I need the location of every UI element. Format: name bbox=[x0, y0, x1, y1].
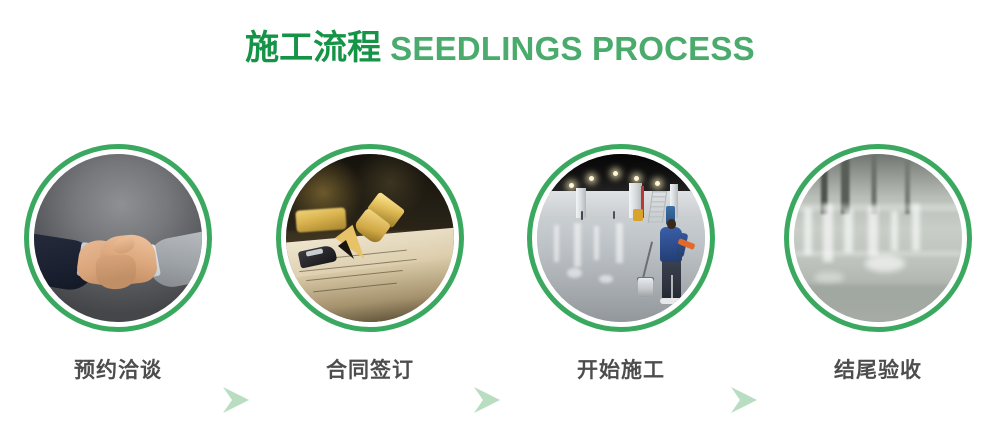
step-4-label: 结尾验收 bbox=[784, 354, 972, 384]
ceiling-lamp bbox=[569, 183, 574, 188]
floor-reflection-streak bbox=[823, 204, 833, 261]
floor-reflection-streak bbox=[804, 208, 812, 255]
step-4-circle-frame bbox=[784, 144, 972, 332]
page-title-english: SEEDLINGS PROCESS bbox=[390, 30, 755, 67]
worker-head bbox=[667, 219, 675, 229]
process-step-1[interactable]: 预约洽谈 bbox=[24, 144, 212, 384]
distant-worker bbox=[581, 211, 584, 219]
arrow-right-icon-3 bbox=[727, 383, 761, 417]
warehouse-scene bbox=[537, 154, 705, 322]
ceiling-lamp bbox=[589, 176, 594, 181]
step-1-label: 预约洽谈 bbox=[24, 354, 212, 384]
handshake-photo bbox=[34, 154, 202, 322]
process-step-3[interactable]: 开始施工 bbox=[527, 144, 715, 384]
floor-construction-photo bbox=[537, 154, 705, 322]
contract-signing-photo bbox=[286, 154, 454, 322]
floor-gloss-highlight bbox=[865, 255, 905, 272]
worker-leg-gap bbox=[671, 275, 673, 300]
floor-gloss-highlight bbox=[814, 272, 844, 284]
floor-reflection bbox=[574, 223, 581, 267]
step-2-label: 合同签订 bbox=[276, 354, 464, 384]
ceiling-lamp bbox=[655, 181, 660, 186]
worker-shoes bbox=[660, 298, 682, 305]
pen-gold-object bbox=[295, 208, 347, 233]
arrow-right-icon-1 bbox=[219, 383, 253, 417]
page-title: 施工流程SEEDLINGS PROCESS bbox=[0, 31, 1000, 65]
step-2-circle-frame bbox=[276, 144, 464, 332]
floor-reflection-streak bbox=[868, 206, 878, 256]
pen-scene-backdrop bbox=[286, 154, 454, 322]
warehouse-wall bbox=[537, 191, 705, 218]
step-3-label: 开始施工 bbox=[527, 354, 715, 384]
floor-light-band bbox=[794, 204, 962, 211]
step-3-circle-frame bbox=[527, 144, 715, 332]
floor-foreground-edge bbox=[794, 285, 962, 322]
process-step-4[interactable]: 结尾验收 bbox=[784, 144, 972, 384]
handshake-backdrop bbox=[34, 154, 202, 322]
floor-reflection bbox=[616, 223, 623, 263]
floor-reflection bbox=[554, 225, 559, 262]
floor-reflection bbox=[599, 275, 612, 283]
warehouse-ceiling bbox=[537, 154, 705, 194]
process-step-2[interactable]: 合同签订 bbox=[276, 144, 464, 384]
distant-worker bbox=[613, 211, 615, 219]
process-steps: 预约洽谈 bbox=[0, 144, 1000, 374]
yellow-cart bbox=[633, 209, 643, 221]
arrow-right-icon-2 bbox=[470, 383, 504, 417]
finished-floor-scene bbox=[794, 154, 962, 322]
ceiling-lamp bbox=[613, 171, 618, 176]
step-1-circle-frame bbox=[24, 144, 212, 332]
floor-reflection-streak bbox=[844, 209, 852, 253]
floor-reflection-streak bbox=[912, 204, 920, 251]
paint-bucket bbox=[638, 278, 653, 296]
handshake-fingers bbox=[96, 254, 137, 289]
page-title-chinese: 施工流程 bbox=[245, 29, 381, 67]
floor-reflection-streak bbox=[891, 211, 898, 251]
floor-reflection bbox=[594, 226, 599, 260]
finished-floor-photo bbox=[794, 154, 962, 322]
